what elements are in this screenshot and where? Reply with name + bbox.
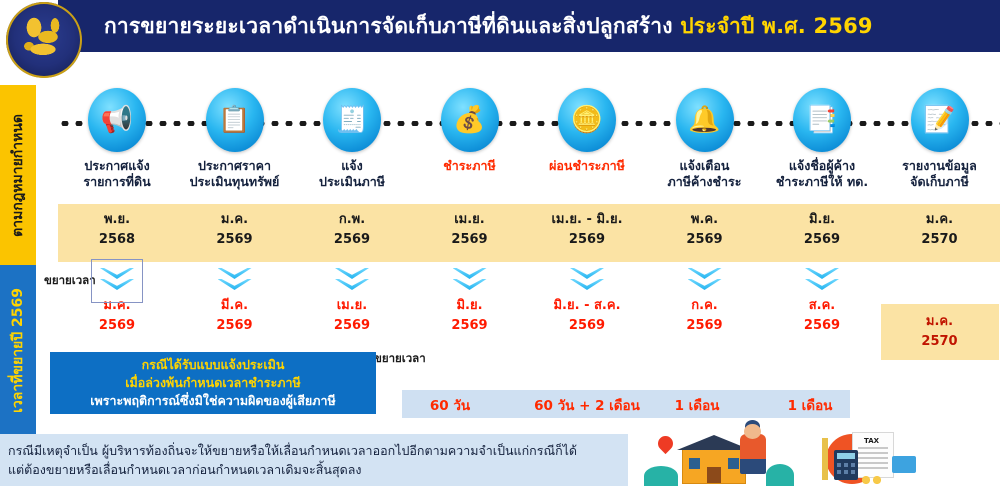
bush-icon bbox=[766, 464, 794, 486]
clipboard-person-icon: 📋 bbox=[206, 88, 264, 152]
extended-date-text: มี.ค.2569 bbox=[176, 296, 294, 335]
page-title: การขยายระยะเวลาดำเนินการจัดเก็บภาษีที่ดิ… bbox=[58, 10, 873, 43]
statutory-date-7: มิ.ย.2569 bbox=[763, 210, 881, 250]
extended-date-month: เม.ย. bbox=[293, 296, 411, 316]
extended-date-text: ก.ค.2569 bbox=[646, 296, 764, 335]
statutory-date-month: ม.ค. bbox=[881, 210, 999, 230]
government-seal-emblem bbox=[6, 2, 82, 78]
extended-date-month: ม.ค. bbox=[58, 296, 176, 316]
bush-icon bbox=[644, 466, 678, 486]
tax-form-icon: 🧾 bbox=[323, 88, 381, 152]
statutory-date-year: 2569 bbox=[176, 230, 294, 250]
duration-strip: 60 วัน60 วัน + 2 เดือน1 เดือน1 เดือน bbox=[402, 390, 850, 418]
statutory-date-band: พ.ย.2568ม.ค.2569ก.พ.2569เม.ย.2569เม.ย. -… bbox=[58, 204, 1000, 262]
statutory-date-year: 2570 bbox=[881, 230, 999, 250]
emblem-figure bbox=[19, 14, 69, 66]
timeline-step-8[interactable]: 📝รายงานข้อมูลจัดเก็บภาษี bbox=[881, 88, 999, 189]
page-title-main: การขยายระยะเวลาดำเนินการจัดเก็บภาษีที่ดิ… bbox=[104, 14, 673, 38]
step-label-line-2: จัดเก็บภาษี bbox=[881, 174, 999, 190]
blue-note-line-3: เพราะพฤติการณ์ซึ่งมิใช่ความผิดของผู้เสีย… bbox=[90, 392, 335, 410]
step-label: แจ้งประเมินภาษี bbox=[293, 158, 411, 189]
statutory-date-1: พ.ย.2568 bbox=[58, 210, 176, 250]
blue-note-box: กรณีได้รับแบบแจ้งประเมิน เมื่อล่วงพ้นกำห… bbox=[50, 352, 376, 414]
hand-coin-icon: 🪙 bbox=[558, 88, 616, 152]
timeline-step-3[interactable]: 🧾แจ้งประเมินภาษี bbox=[293, 88, 411, 189]
calculator-screen bbox=[837, 453, 855, 459]
extended-date-text: มิ.ย.2569 bbox=[411, 296, 529, 335]
extended-date-3: เม.ย.2569 bbox=[293, 268, 411, 335]
duration-4: 1 เดือน bbox=[770, 394, 850, 416]
chevron-down-icon bbox=[335, 268, 369, 294]
checklist-report-icon: 📝 bbox=[911, 88, 969, 152]
step-label-line-1: แจ้งชื่อผู้ค้าง bbox=[763, 158, 881, 174]
statutory-date-month: ม.ค. bbox=[176, 210, 294, 230]
extended-date-text: ส.ค.2569 bbox=[763, 296, 881, 335]
extended-date-year: 2569 bbox=[763, 316, 881, 336]
step-label-line-2: รายการที่ดิน bbox=[58, 174, 176, 190]
step-label: ประกาศราคาประเมินทุนทรัพย์ bbox=[176, 158, 294, 189]
extended-date-8: ม.ค.2570 bbox=[881, 304, 999, 360]
blue-note-line-2: เมื่อล่วงพ้นกำหนดเวลาชำระภาษี bbox=[125, 374, 300, 392]
inspector-person-icon bbox=[740, 434, 766, 474]
bottom-note-line-2: แต่ต้องขยายหรือเลื่อนกำหนดเวลาก่อนกำหนดเ… bbox=[8, 461, 618, 480]
step-label-line-1: ประกาศราคา bbox=[176, 158, 294, 174]
step-label: รายงานข้อมูลจัดเก็บภาษี bbox=[881, 158, 999, 189]
step-label-line-1: ประกาศแจ้ง bbox=[58, 158, 176, 174]
side-label-extension: เวลาที่ขยายปี 2569 bbox=[0, 265, 36, 435]
extension-tag-2: ขยายเวลา bbox=[374, 350, 426, 368]
tax-list-icon-glyph: 📑 bbox=[806, 107, 838, 133]
person-head bbox=[744, 424, 761, 439]
side-label-statutory: ตามกฎหมายกำหนด bbox=[0, 85, 36, 265]
duration-2: 60 วัน + 2 เดือน bbox=[512, 394, 662, 416]
extended-date-year: 2569 bbox=[411, 316, 529, 336]
extended-date-year: 2569 bbox=[58, 316, 176, 336]
window-shape bbox=[728, 458, 739, 469]
timeline-step-6[interactable]: 🔔แจ้งเตือนภาษีค้างชำระ bbox=[646, 88, 764, 189]
step-timeline: 📢ประกาศแจ้งรายการที่ดิน📋ประกาศราคาประเมิ… bbox=[58, 88, 1000, 200]
statutory-date-6: พ.ค.2569 bbox=[646, 210, 764, 250]
clipboard-person-icon-glyph: 📋 bbox=[218, 107, 250, 133]
statutory-date-year: 2569 bbox=[293, 230, 411, 250]
step-label: ผ่อนชำระภาษี bbox=[528, 158, 646, 174]
map-pin-icon bbox=[655, 433, 676, 454]
step-label-line-2: ชำระภาษีให้ ทด. bbox=[763, 174, 881, 190]
extended-date-month: มิ.ย. - ส.ค. bbox=[528, 296, 646, 316]
step-label: แจ้งชื่อผู้ค้างชำระภาษีให้ ทด. bbox=[763, 158, 881, 189]
extended-date-month: มิ.ย. bbox=[411, 296, 529, 316]
extended-date-7: ส.ค.2569 bbox=[763, 268, 881, 335]
extended-date-2: มี.ค.2569 bbox=[176, 268, 294, 335]
extended-date-month: ม.ค. bbox=[881, 312, 999, 332]
megaphone-icon: 📢 bbox=[88, 88, 146, 152]
statutory-date-year: 2569 bbox=[763, 230, 881, 250]
extension-date-row: ขยายเวลา ขยายเวลา ม.ค.2569มี.ค.2569เม.ย.… bbox=[36, 266, 1000, 366]
extended-date-text: เม.ย.2569 bbox=[293, 296, 411, 335]
coins-icon bbox=[860, 475, 884, 484]
chevron-down-icon bbox=[805, 268, 839, 294]
step-label-line-1: ชำระภาษี bbox=[411, 158, 529, 174]
statutory-date-4: เม.ย.2569 bbox=[411, 210, 529, 250]
extended-date-6: ก.ค.2569 bbox=[646, 268, 764, 335]
statutory-date-year: 2568 bbox=[58, 230, 176, 250]
step-label-line-1: ผ่อนชำระภาษี bbox=[528, 158, 646, 174]
extended-date-month: มี.ค. bbox=[176, 296, 294, 316]
statutory-date-month: เม.ย. bbox=[411, 210, 529, 230]
statutory-date-month: มิ.ย. bbox=[763, 210, 881, 230]
tax-paper-icon: TAX bbox=[852, 432, 894, 478]
tax-document-illustration: TAX bbox=[808, 432, 928, 486]
step-label: แจ้งเตือนภาษีค้างชำระ bbox=[646, 158, 764, 189]
statutory-date-month: พ.ย. bbox=[58, 210, 176, 230]
duration-3: 1 เดือน bbox=[652, 394, 742, 416]
extended-date-year: 2569 bbox=[646, 316, 764, 336]
statutory-date-2: ม.ค.2569 bbox=[176, 210, 294, 250]
tax-list-icon: 📑 bbox=[793, 88, 851, 152]
chevron-down-icon bbox=[688, 268, 722, 294]
tax-form-icon-glyph: 🧾 bbox=[336, 107, 368, 133]
statutory-date-month: เม.ย. - มิ.ย. bbox=[528, 210, 646, 230]
blue-card-icon bbox=[892, 456, 916, 473]
bottom-note: กรณีมีเหตุจำเป็น ผู้บริหารท้องถิ่นจะให้ข… bbox=[0, 434, 628, 486]
chevron-down-icon bbox=[218, 268, 252, 294]
calculator-icon bbox=[834, 450, 858, 480]
house-icon bbox=[682, 448, 746, 484]
statutory-date-year: 2569 bbox=[411, 230, 529, 250]
alert-bell-icon: 🔔 bbox=[676, 88, 734, 152]
chevron-down-icon bbox=[100, 268, 134, 294]
checklist-report-icon-glyph: 📝 bbox=[923, 107, 955, 133]
alert-bell-icon-glyph: 🔔 bbox=[688, 107, 720, 133]
money-bag-hand-icon-glyph: 💰 bbox=[453, 107, 485, 133]
step-label-line-1: แจ้ง bbox=[293, 158, 411, 174]
timeline-step-7[interactable]: 📑แจ้งชื่อผู้ค้างชำระภาษีให้ ทด. bbox=[763, 88, 881, 189]
statutory-date-5: เม.ย. - มิ.ย.2569 bbox=[528, 210, 646, 250]
pencil-icon bbox=[822, 438, 828, 480]
statutory-date-year: 2569 bbox=[646, 230, 764, 250]
extended-date-month: ส.ค. bbox=[763, 296, 881, 316]
blue-note-line-1: กรณีได้รับแบบแจ้งประเมิน bbox=[142, 356, 285, 374]
window-shape bbox=[689, 458, 700, 469]
extended-date-year: 2569 bbox=[528, 316, 646, 336]
timeline-step-1[interactable]: 📢ประกาศแจ้งรายการที่ดิน bbox=[58, 88, 176, 189]
tax-label: TAX bbox=[864, 437, 879, 445]
timeline-step-2[interactable]: 📋ประกาศราคาประเมินทุนทรัพย์ bbox=[176, 88, 294, 189]
duration-1: 60 วัน bbox=[410, 394, 490, 416]
side-label-statutory-text: ตามกฎหมายกำหนด bbox=[7, 114, 29, 237]
door-shape bbox=[707, 467, 721, 483]
money-bag-hand-icon: 💰 bbox=[441, 88, 499, 152]
statutory-date-3: ก.พ.2569 bbox=[293, 210, 411, 250]
bottom-note-line-1: กรณีมีเหตุจำเป็น ผู้บริหารท้องถิ่นจะให้ข… bbox=[8, 442, 618, 461]
side-label-extension-text: เวลาที่ขยายปี 2569 bbox=[7, 288, 29, 413]
header-band: การขยายระยะเวลาดำเนินการจัดเก็บภาษีที่ดิ… bbox=[58, 0, 1000, 52]
step-label-line-2: ประเมินภาษี bbox=[293, 174, 411, 190]
page-title-year: ประจำปี พ.ศ. 2569 bbox=[680, 14, 873, 38]
megaphone-icon-glyph: 📢 bbox=[101, 107, 133, 133]
hand-coin-icon-glyph: 🪙 bbox=[571, 107, 603, 133]
statutory-date-year: 2569 bbox=[528, 230, 646, 250]
extended-date-1: ม.ค.2569 bbox=[58, 268, 176, 335]
statutory-date-month: ก.พ. bbox=[293, 210, 411, 230]
timeline-step-5[interactable]: 🪙ผ่อนชำระภาษี bbox=[528, 88, 646, 174]
step-label: ประกาศแจ้งรายการที่ดิน bbox=[58, 158, 176, 189]
house-inspector-illustration bbox=[636, 432, 806, 486]
extended-date-text: ม.ค.2569 bbox=[58, 296, 176, 335]
step-label: ชำระภาษี bbox=[411, 158, 529, 174]
infographic-root: การขยายระยะเวลาดำเนินการจัดเก็บภาษีที่ดิ… bbox=[0, 0, 1000, 486]
extended-date-text: ม.ค.2570 bbox=[881, 312, 999, 351]
chevron-down-icon bbox=[453, 268, 487, 294]
extended-date-year: 2570 bbox=[881, 332, 999, 352]
statutory-date-month: พ.ค. bbox=[646, 210, 764, 230]
extended-date-4: มิ.ย.2569 bbox=[411, 268, 529, 335]
step-label-line-1: รายงานข้อมูล bbox=[881, 158, 999, 174]
step-label-line-2: ภาษีค้างชำระ bbox=[646, 174, 764, 190]
timeline-step-4[interactable]: 💰ชำระภาษี bbox=[411, 88, 529, 174]
extended-date-year: 2569 bbox=[176, 316, 294, 336]
extended-date-year: 2569 bbox=[293, 316, 411, 336]
extended-date-month: ก.ค. bbox=[646, 296, 764, 316]
statutory-date-8: ม.ค.2570 bbox=[881, 210, 999, 250]
chevron-down-icon bbox=[570, 268, 604, 294]
extended-date-5: มิ.ย. - ส.ค.2569 bbox=[528, 268, 646, 335]
step-label-line-2: ประเมินทุนทรัพย์ bbox=[176, 174, 294, 190]
step-label-line-1: แจ้งเตือน bbox=[646, 158, 764, 174]
extended-date-text: มิ.ย. - ส.ค.2569 bbox=[528, 296, 646, 335]
